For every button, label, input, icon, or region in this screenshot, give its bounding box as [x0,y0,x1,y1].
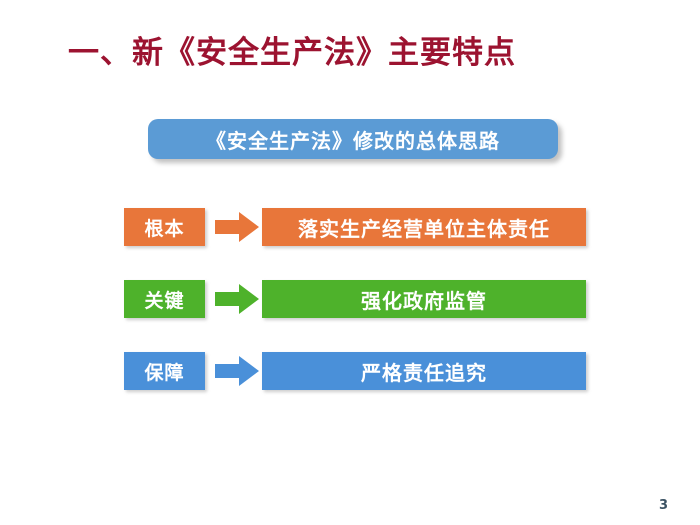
diagram-row-2: 关键 强化政府监管 [124,280,586,318]
right-arrow-icon [215,283,259,315]
page-title: 一、新《安全生产法》主要特点 [68,30,516,76]
page-number: 3 [659,498,668,513]
diagram-row-1: 根本 落实生产经营单位主体责任 [124,208,586,246]
banner-label: 《安全生产法》修改的总体思路 [206,125,500,154]
row-1-content-text: 落实生产经营单位主体责任 [298,213,550,242]
row-3-content-text: 严格责任追究 [361,357,487,386]
row-2-label-box: 关键 [124,280,205,318]
diagram-row-3: 保障 严格责任追究 [124,352,586,390]
row-1-content-box: 落实生产经营单位主体责任 [262,208,586,246]
right-arrow-icon [215,211,259,243]
row-1-label-box: 根本 [124,208,205,246]
presentation-slide: 一、新《安全生产法》主要特点 《安全生产法》修改的总体思路 根本 落实生产经营单… [0,0,700,525]
row-2-label-text: 关键 [144,286,184,313]
row-2-content-box: 强化政府监管 [262,280,586,318]
row-3-label-box: 保障 [124,352,205,390]
banner-box: 《安全生产法》修改的总体思路 [148,119,558,159]
row-2-content-text: 强化政府监管 [361,285,487,314]
right-arrow-icon [215,355,259,387]
row-1-label-text: 根本 [144,214,184,241]
row-3-content-box: 严格责任追究 [262,352,586,390]
row-3-label-text: 保障 [144,358,184,385]
